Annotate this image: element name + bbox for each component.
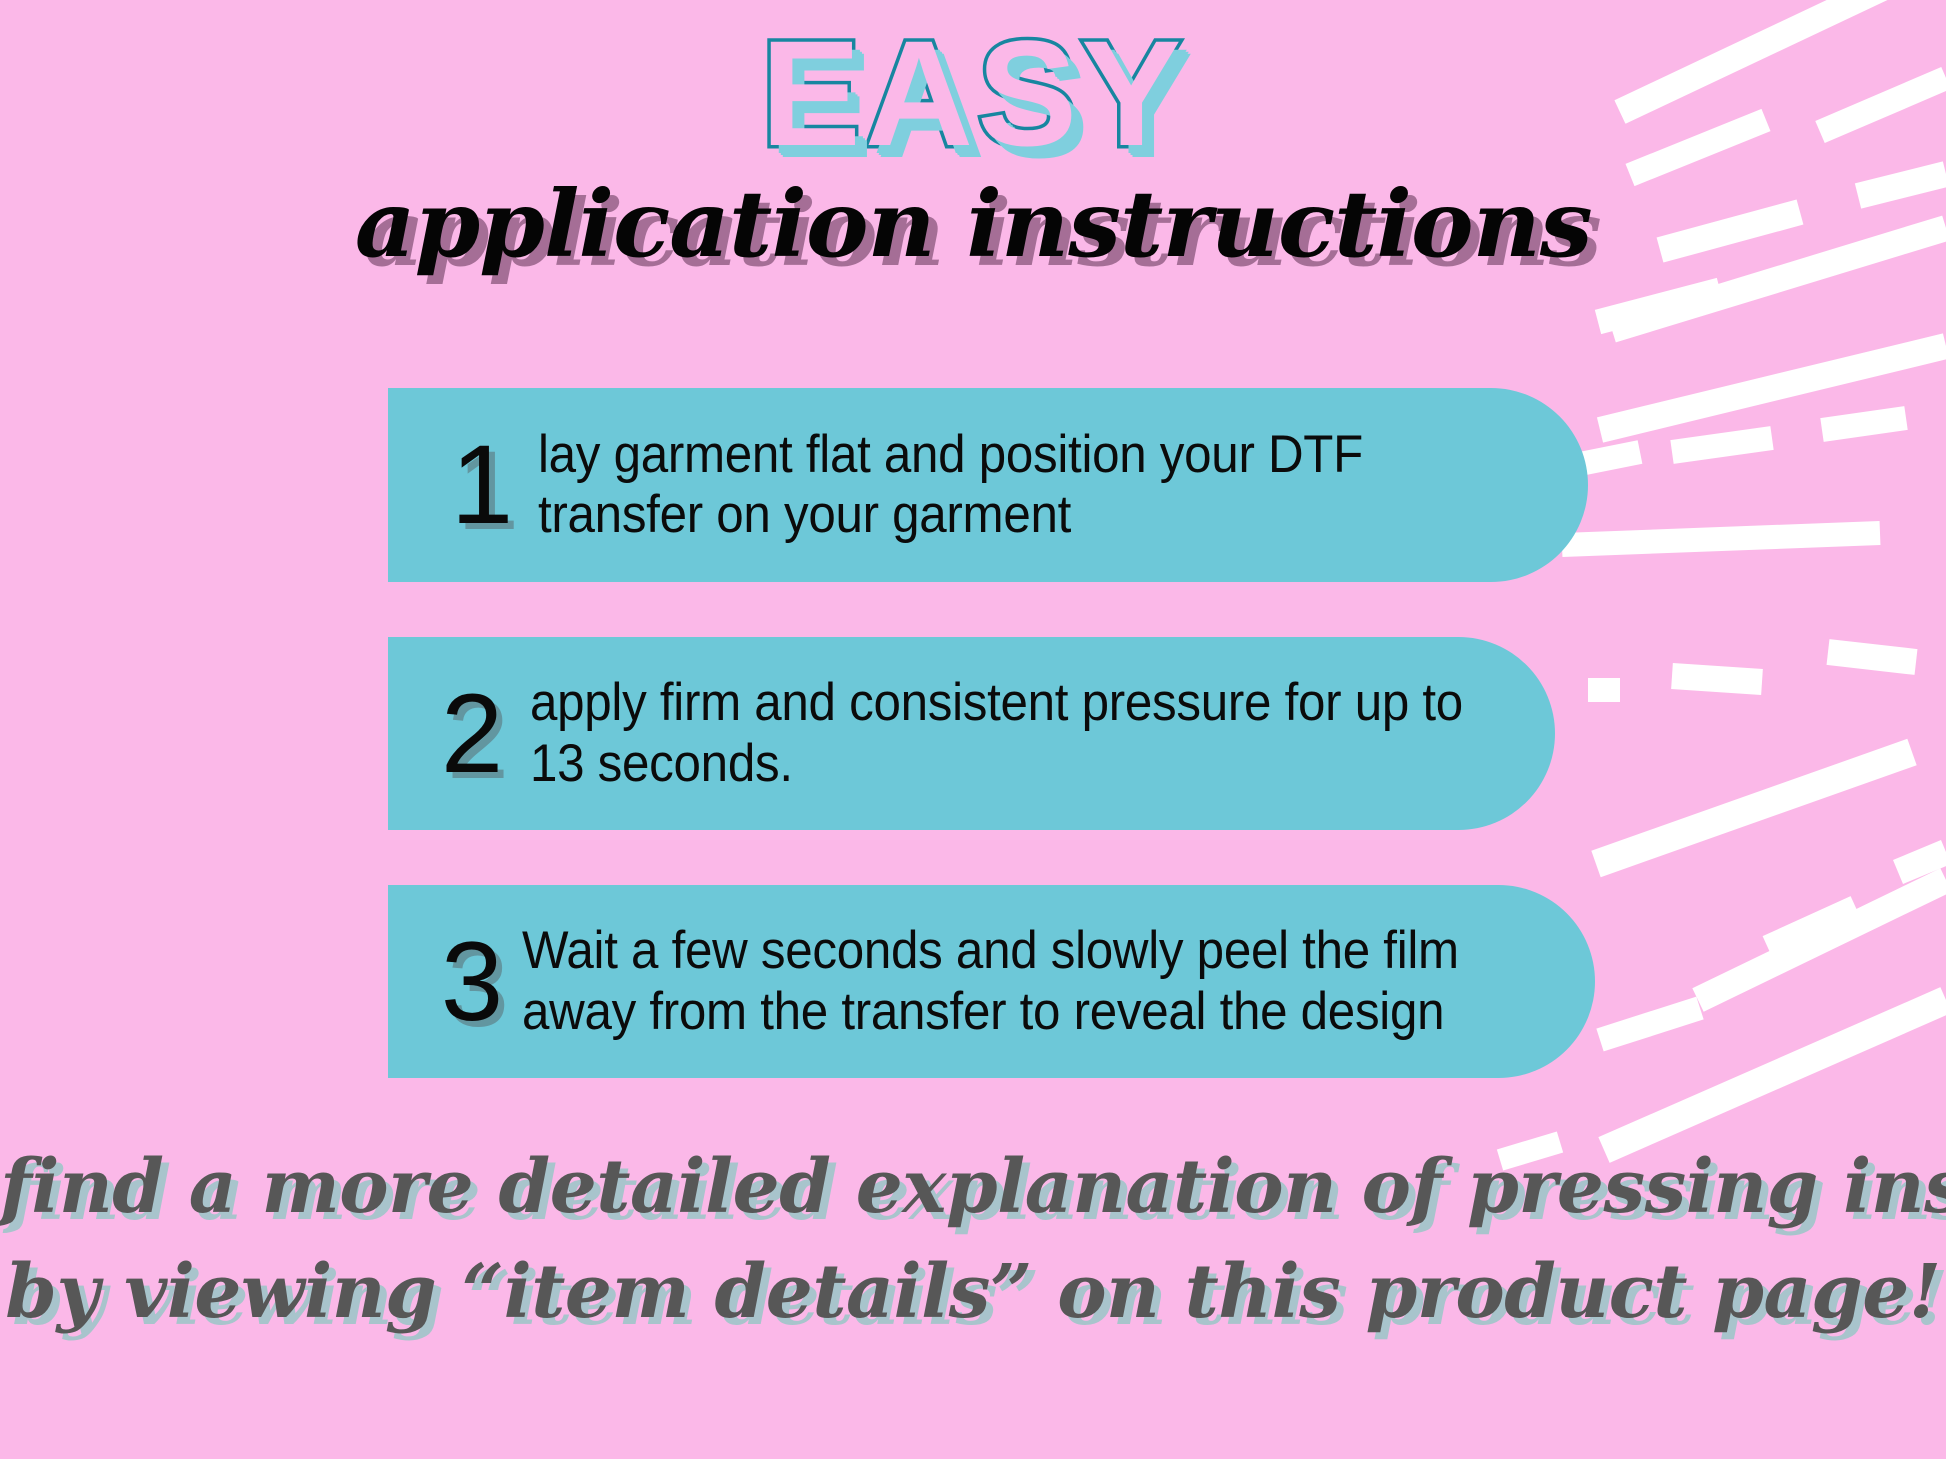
poster-canvas: EASY application instructions 1 lay garm… bbox=[0, 0, 1946, 1459]
step-text-1: lay garment flat and position your DTF t… bbox=[538, 425, 1515, 546]
footer-container: find a more detailed explanation of pres… bbox=[0, 1135, 1946, 1345]
step-number-3: 3 bbox=[428, 926, 516, 1038]
sunburst-ray-20 bbox=[1698, 880, 1946, 1000]
sunburst-ray-13 bbox=[1562, 533, 1880, 545]
sunburst-ray-9 bbox=[1600, 346, 1946, 430]
step-number-2: 2 bbox=[428, 678, 516, 790]
sunburst-ray-19 bbox=[1768, 908, 1856, 948]
sunburst-ray-22 bbox=[1604, 1000, 1946, 1150]
step-pill-1: 1 lay garment flat and position your DTF… bbox=[388, 388, 1588, 582]
subtitle-container: application instructions bbox=[0, 176, 1946, 273]
page-subtitle: application instructions bbox=[355, 176, 1592, 273]
step-pill-3: 3 Wait a few seconds and slowly peel the… bbox=[388, 885, 1595, 1078]
sunburst-ray-16 bbox=[1828, 652, 1916, 662]
sunburst-ray-21 bbox=[1600, 1008, 1700, 1040]
page-title: EASY bbox=[761, 18, 1185, 168]
sunburst-ray-18 bbox=[1898, 852, 1946, 872]
headline-container: EASY bbox=[0, 18, 1946, 168]
sunburst-ray-11 bbox=[1672, 438, 1772, 452]
step-number-1: 1 bbox=[438, 429, 526, 541]
footer-line-1: find a more detailed explanation of pres… bbox=[0, 1135, 1946, 1240]
sunburst-ray-15 bbox=[1672, 676, 1762, 682]
step-pill-2: 2 apply firm and consistent pressure for… bbox=[388, 637, 1555, 830]
step-text-3: Wait a few seconds and slowly peel the f… bbox=[522, 921, 1520, 1042]
step-text-2: apply firm and consistent pressure for u… bbox=[530, 673, 1483, 794]
sunburst-ray-12 bbox=[1822, 418, 1906, 430]
sunburst-ray-8 bbox=[1598, 290, 1720, 322]
footer-line-2: by viewing “item details” on this produc… bbox=[0, 1240, 1946, 1345]
sunburst-ray-17 bbox=[1596, 752, 1912, 864]
